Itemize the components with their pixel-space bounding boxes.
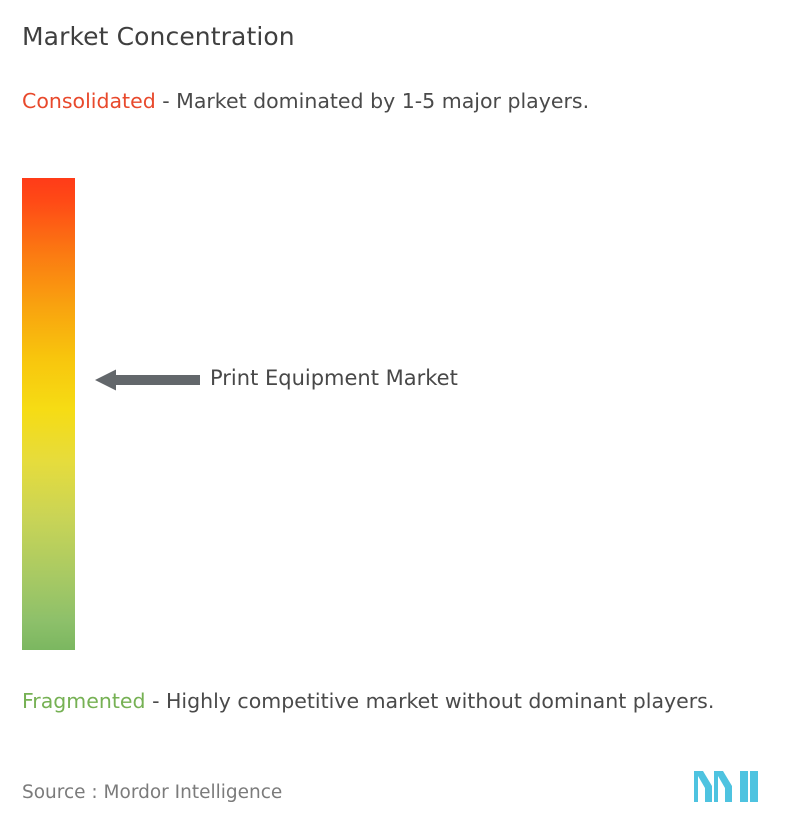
concentration-gradient-bar	[22, 178, 75, 650]
consolidated-keyword: Consolidated	[22, 89, 156, 113]
source-attribution: Source : Mordor Intelligence	[22, 782, 282, 803]
arrow-left-icon	[92, 366, 200, 394]
market-position-annotation: Print Equipment Market	[92, 366, 572, 398]
consolidated-caption: Consolidated - Market dominated by 1-5 m…	[22, 86, 774, 117]
mordor-intelligence-logo	[692, 768, 760, 804]
fragmented-description: - Highly competitive market without domi…	[146, 689, 715, 713]
fragmented-caption: Fragmented - Highly competitive market w…	[22, 686, 784, 717]
page-title: Market Concentration	[22, 22, 295, 51]
chart-canvas: Market Concentration Consolidated - Mark…	[0, 0, 796, 834]
market-position-label: Print Equipment Market	[210, 366, 458, 390]
consolidated-description: - Market dominated by 1-5 major players.	[156, 89, 589, 113]
fragmented-keyword: Fragmented	[22, 689, 146, 713]
